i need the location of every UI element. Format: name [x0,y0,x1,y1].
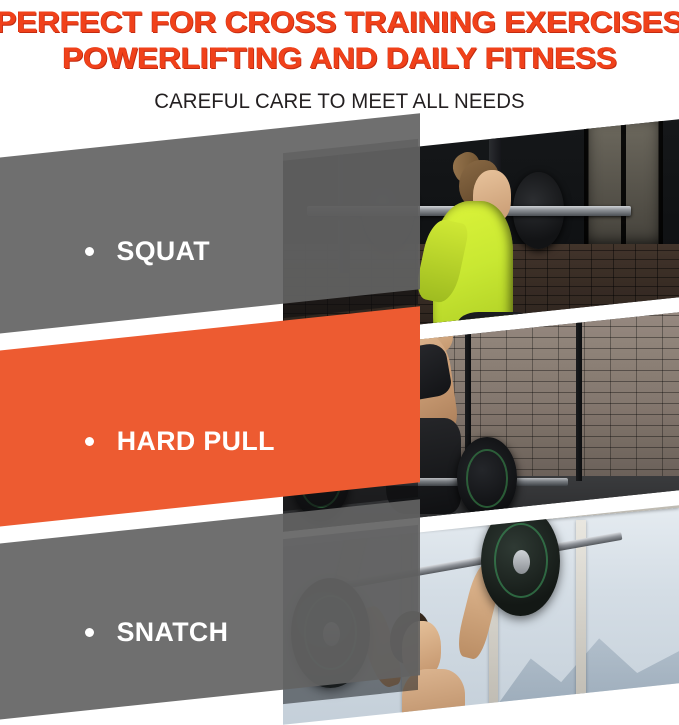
headline-line-2: POWERLIFTING AND DAILY FITNESS [0,42,679,76]
hard-pull-label: HARD PULL [117,426,275,457]
bullet-icon [85,437,94,446]
snatch-label: SNATCH [117,617,229,648]
exercise-row-hard-pull: HARD PULL [0,325,679,525]
headline-line-1: PERFECT FOR CROSS TRAINING EXERCISES [0,6,679,40]
subheadline: CAREFUL CARE TO MEET ALL NEEDS [10,90,669,114]
snatch-label-group: SNATCH [85,617,229,648]
squat-label: SQUAT [116,236,210,267]
exercise-row-snatch: SNATCH [0,518,679,718]
hard-pull-label-group: HARD PULL [85,426,276,457]
squat-label-group: SQUAT [85,236,211,267]
exercise-rows: SQUAT [0,132,679,722]
bullet-icon [85,628,94,637]
header: PERFECT FOR CROSS TRAINING EXERCISES POW… [0,0,679,114]
bullet-icon [85,247,94,256]
exercise-row-squat: SQUAT [0,132,679,332]
